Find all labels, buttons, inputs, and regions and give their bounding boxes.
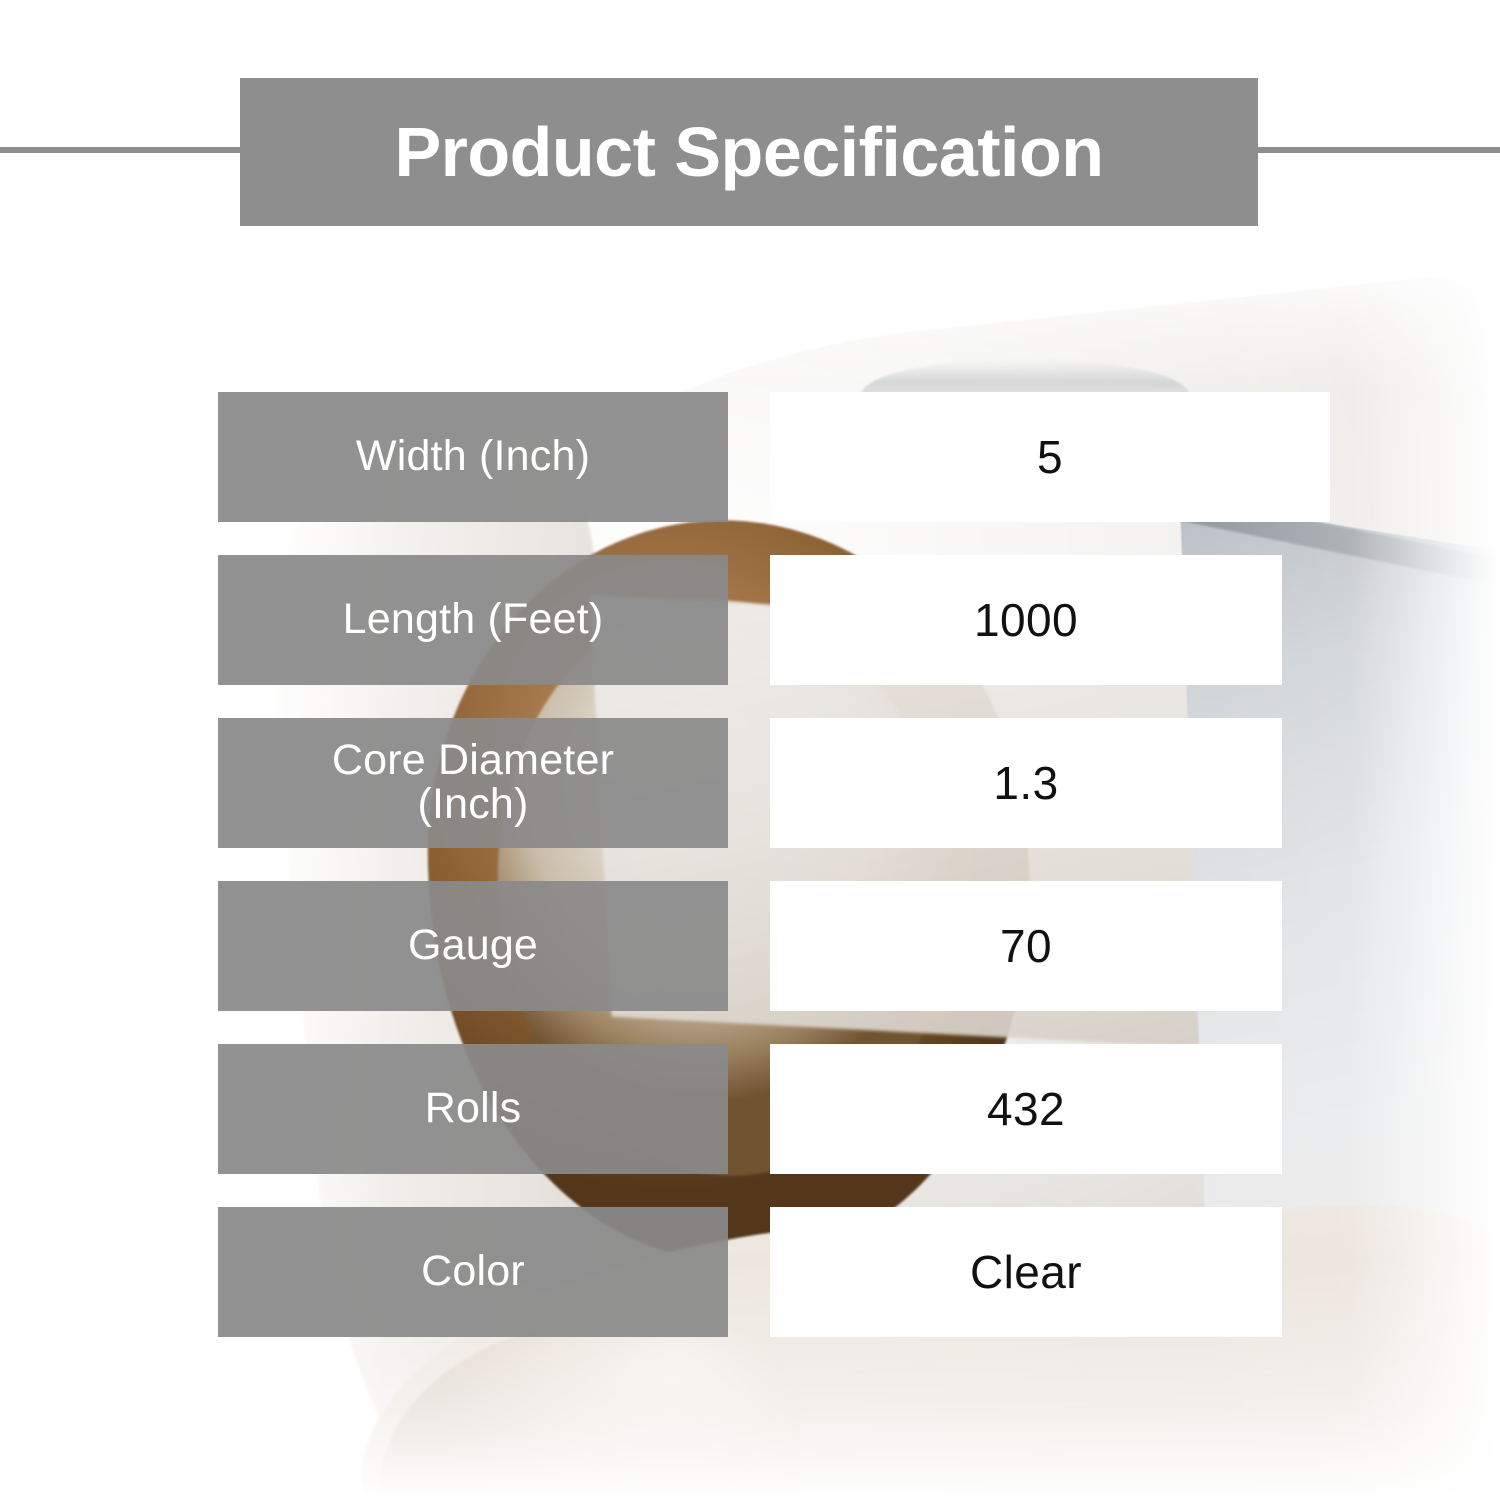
table-row: Length (Feet) 1000: [0, 555, 1500, 685]
spec-label-rolls: Rolls: [218, 1044, 728, 1174]
spec-label-text: Color: [421, 1250, 525, 1294]
spec-label-text: Length (Feet): [343, 598, 604, 642]
spec-value-color: Clear: [770, 1207, 1282, 1337]
table-row: Color Clear: [0, 1207, 1500, 1337]
spec-value-text: 432: [987, 1086, 1065, 1132]
specification-table: Width (Inch) 5 Length (Feet) 1000 Core D…: [0, 392, 1500, 1370]
spec-label-width: Width (Inch): [218, 392, 728, 522]
table-row: Gauge 70: [0, 881, 1500, 1011]
spec-label-line-1: Core Diameter: [332, 736, 614, 784]
spec-value-text: Clear: [970, 1249, 1082, 1295]
spec-value-text: 1000: [974, 597, 1078, 643]
spec-label-line-2: (Inch): [417, 780, 528, 828]
product-spec-infographic: Product Specification Width (Inch) 5 Len…: [0, 0, 1500, 1500]
spec-value-text: 5: [1037, 434, 1063, 480]
spec-label-length: Length (Feet): [218, 555, 728, 685]
spec-value-width: 5: [770, 392, 1330, 522]
spec-label-text: Width (Inch): [356, 435, 590, 479]
spec-label-color: Color: [218, 1207, 728, 1337]
spec-value-core-diameter: 1.3: [770, 718, 1282, 848]
spec-label-gauge: Gauge: [218, 881, 728, 1011]
title-banner: Product Specification: [240, 78, 1258, 226]
spec-value-text: 70: [1000, 923, 1052, 969]
spec-value-length: 1000: [770, 555, 1282, 685]
page-title: Product Specification: [394, 117, 1103, 187]
spec-label-text: Rolls: [425, 1087, 522, 1131]
table-row: Core Diameter (Inch) 1.3: [0, 718, 1500, 848]
spec-label-core-diameter: Core Diameter (Inch): [218, 718, 728, 848]
spec-label-text: Core Diameter (Inch): [332, 739, 614, 827]
spec-label-text: Gauge: [408, 924, 538, 968]
spec-value-text: 1.3: [993, 760, 1058, 806]
spec-value-gauge: 70: [770, 881, 1282, 1011]
spec-value-rolls: 432: [770, 1044, 1282, 1174]
table-row: Width (Inch) 5: [0, 392, 1500, 522]
table-row: Rolls 432: [0, 1044, 1500, 1174]
